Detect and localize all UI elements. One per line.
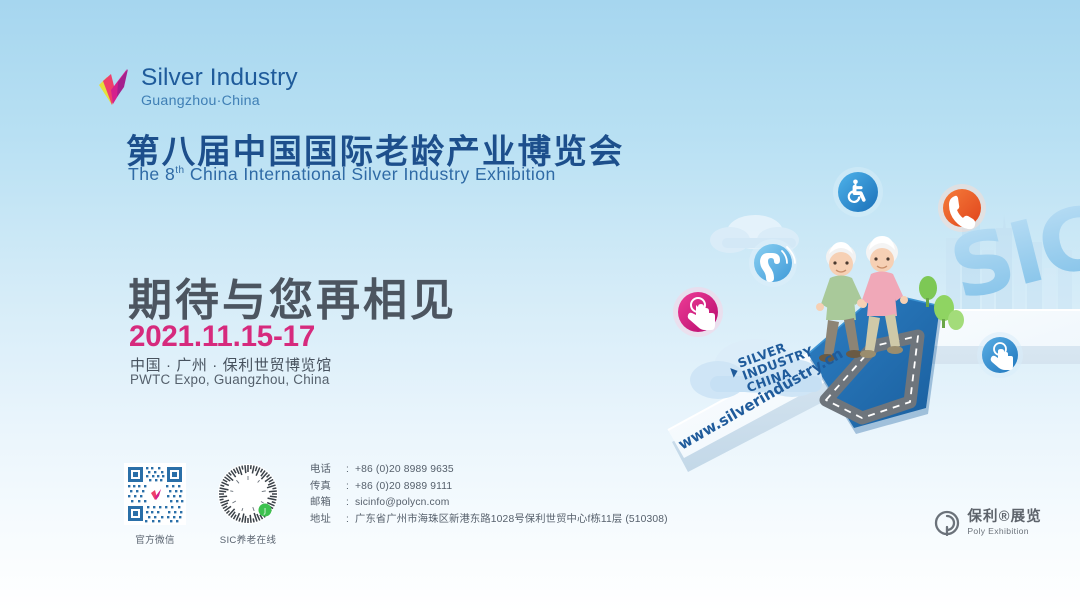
qr-code-group: 官方微信 (124, 463, 279, 546)
contact-colon-address: : (346, 512, 355, 529)
qr-code-square-icon (124, 463, 186, 525)
hero-illustration: SIC (660, 150, 1080, 490)
contact-row-address: 地址 : 广东省广州市海珠区新港东路1028号保利世贸中心f栋11层 (5103… (310, 512, 668, 529)
contact-label-fax: 传真 (310, 479, 346, 496)
hearing-ear-icon (749, 239, 797, 287)
poly-logo-chinese: 保利®展览 (967, 510, 1042, 525)
exhibition-title-english: The 8th China International Silver Indus… (128, 164, 556, 185)
title-en-prefix: The 8 (128, 164, 175, 184)
wheelchair-accessibility-icon (833, 167, 883, 217)
headline-slogan: 期待与您再相见 (128, 264, 457, 328)
qr-item-wechat: 官方微信 (124, 463, 186, 546)
contact-row-fax: 传真 : +86 (0)20 8989 9111 (310, 479, 668, 496)
contact-label-email: 邮箱 (310, 495, 346, 512)
svg-text:J: J (263, 507, 266, 515)
contact-label-address: 地址 (310, 512, 346, 529)
hand-touch-icon-pink (673, 287, 723, 337)
title-en-rest: China International Silver Industry Exhi… (185, 164, 556, 184)
contact-value-phone: +86 (0)20 8989 9635 (355, 462, 454, 479)
contact-value-address: 广东省广州市海珠区新港东路1028号保利世贸中心f栋11层 (510308) (355, 512, 668, 529)
title-en-superscript: th (175, 165, 184, 176)
contact-value-email[interactable]: sicinfo@polycn.com (355, 495, 449, 512)
silver-industry-checkmark-logo-icon (98, 68, 132, 106)
event-date: 2021.11.15-17 (129, 320, 315, 354)
poly-exhibition-logo: 保利®展览 Poly Exhibition (934, 510, 1042, 536)
qr-caption-wechat: 官方微信 (124, 532, 186, 546)
poly-logo-english: Poly Exhibition (967, 527, 1042, 536)
phone-handset-icon (938, 184, 986, 232)
brand-name: Silver Industry (141, 66, 298, 91)
brand-logo: Silver Industry Guangzhou·China (98, 66, 298, 108)
hand-touch-icon-blue (977, 332, 1023, 378)
contact-colon-fax: : (346, 479, 355, 496)
contact-colon-phone: : (346, 462, 355, 479)
poly-p-ring-logo-icon (934, 510, 960, 536)
qr-caption-sic-online: SIC养老在线 (217, 532, 279, 546)
contact-value-fax: +86 (0)20 8989 9111 (355, 479, 452, 496)
event-venue-english: PWTC Expo, Guangzhou, China (130, 372, 330, 387)
qr-item-sic-online: J SIC养老在线 (217, 463, 279, 546)
qr-code-circular-icon: J (217, 463, 279, 525)
poster-canvas: Silver Industry Guangzhou·China 第八届中国国际老… (0, 0, 1080, 612)
contact-label-phone: 电话 (310, 462, 346, 479)
contact-colon-email: : (346, 495, 355, 512)
contact-row-email: 邮箱 : sicinfo@polycn.com (310, 495, 668, 512)
brand-subtitle: Guangzhou·China (141, 94, 298, 108)
contact-info-block: 电话 : +86 (0)20 8989 9635 传真 : +86 (0)20 … (310, 462, 668, 529)
contact-row-phone: 电话 : +86 (0)20 8989 9635 (310, 462, 668, 479)
